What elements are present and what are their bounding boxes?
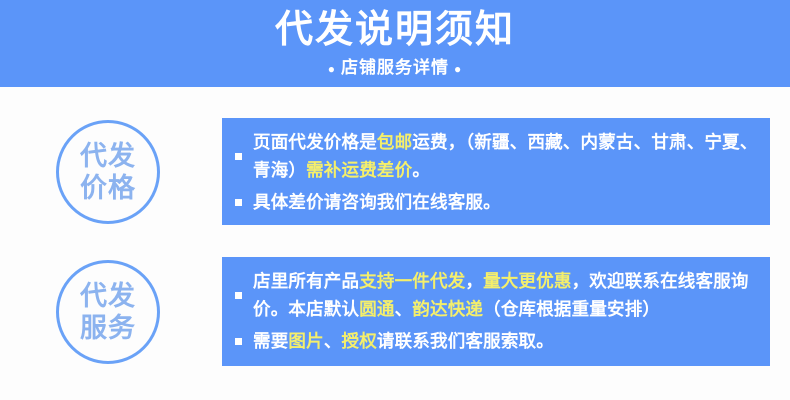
plain-text: 。 — [412, 160, 430, 180]
plain-text: 具体差价请咨询我们在线客服。 — [253, 192, 501, 212]
badge-price: 代发 价格 — [56, 120, 160, 224]
highlighted-text: 授权 — [342, 331, 377, 351]
badge-price-line1: 代发 — [80, 140, 136, 172]
bullet-dot-right-icon: ● — [449, 62, 467, 76]
list-item: 店里所有产品支持一件代发，量大更优惠，欢迎联系在线客服询价。本店默认圆通、韵达快… — [232, 267, 758, 323]
highlighted-text: 量大更优惠 — [483, 271, 572, 291]
plain-text: 店里所有产品 — [253, 271, 359, 291]
page-subtitle: ●店铺服务详情● — [0, 53, 790, 80]
square-bullet-icon — [235, 199, 242, 206]
plain-text: （仓库根据重量安排） — [483, 299, 660, 319]
plain-text: 需要 — [253, 331, 288, 351]
square-bullet-icon — [235, 338, 242, 345]
badge-price-line2: 价格 — [80, 172, 136, 204]
highlighted-text: 包邮 — [377, 132, 412, 152]
badge-service-line2: 服务 — [80, 312, 136, 344]
list-item: 需要图片、授权请联系我们客服索取。 — [232, 327, 758, 355]
plain-text: 、 — [395, 299, 413, 319]
badge-service-line1: 代发 — [80, 280, 136, 312]
page-header-banner: 代发说明须知 ●店铺服务详情● — [0, 0, 790, 87]
plain-text: 请联系我们客服索取。 — [377, 331, 554, 351]
price-panel: 页面代发价格是包邮运费，（新疆、西藏、内蒙古、甘肃、宁夏、青海）需补运费差价。具… — [222, 118, 770, 225]
highlighted-text: 支持一件代发 — [359, 271, 465, 291]
highlighted-text: 图片 — [288, 331, 323, 351]
page-title: 代发说明须知 — [0, 0, 790, 53]
list-item: 具体差价请咨询我们在线客服。 — [232, 188, 758, 216]
square-bullet-icon — [235, 153, 242, 160]
bullet-dot-left-icon: ● — [323, 62, 341, 76]
highlighted-text: 韵达快递 — [412, 299, 483, 319]
highlighted-text: 需补运费差价 — [306, 160, 412, 180]
dropshipping-notice-page: 代发说明须知 ●店铺服务详情● 代发 价格 代发 服务 页面代发价格是包邮运费，… — [0, 0, 790, 400]
service-panel: 店里所有产品支持一件代发，量大更优惠，欢迎联系在线客服询价。本店默认圆通、韵达快… — [222, 257, 770, 366]
plain-text: 、 — [324, 331, 342, 351]
plain-text: ， — [465, 271, 483, 291]
list-item-text: 页面代发价格是包邮运费，（新疆、西藏、内蒙古、甘肃、宁夏、青海）需补运费差价。 — [253, 128, 758, 184]
badge-service: 代发 服务 — [56, 260, 160, 364]
list-item-text: 需要图片、授权请联系我们客服索取。 — [253, 327, 758, 355]
list-item: 页面代发价格是包邮运费，（新疆、西藏、内蒙古、甘肃、宁夏、青海）需补运费差价。 — [232, 128, 758, 184]
square-bullet-icon — [235, 292, 242, 299]
plain-text: 页面代发价格是 — [253, 132, 377, 152]
highlighted-text: 圆通 — [359, 299, 394, 319]
list-item-text: 具体差价请咨询我们在线客服。 — [253, 188, 758, 216]
list-item-text: 店里所有产品支持一件代发，量大更优惠，欢迎联系在线客服询价。本店默认圆通、韵达快… — [253, 267, 758, 323]
page-subtitle-text: 店铺服务详情 — [341, 58, 449, 77]
